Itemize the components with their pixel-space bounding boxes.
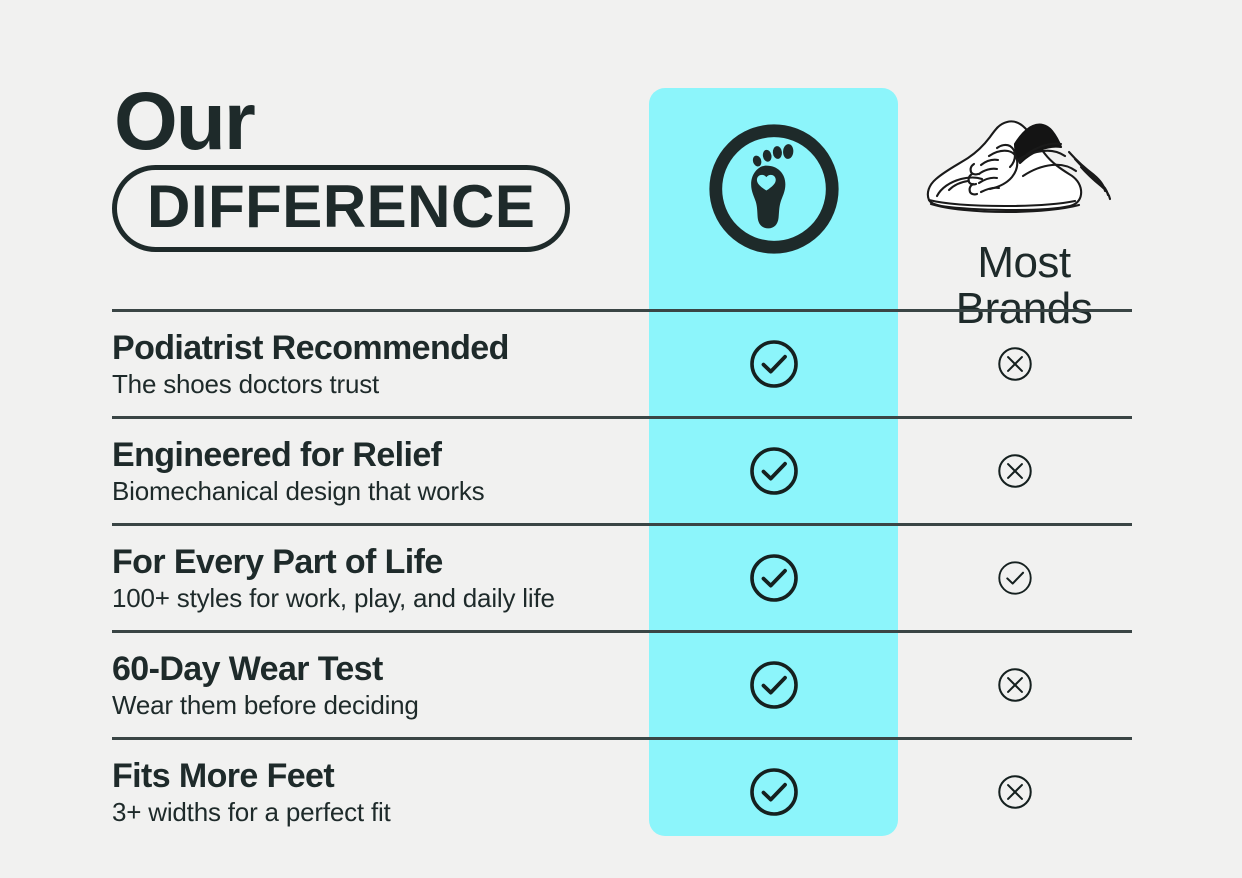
check-circle-icon bbox=[748, 552, 800, 604]
cross-circle-icon bbox=[996, 666, 1034, 704]
feature-title: Podiatrist Recommended bbox=[112, 329, 637, 367]
feature-subtitle: Biomechanical design that works bbox=[112, 476, 637, 507]
table-row: Fits More Feet3+ widths for a perfect fi… bbox=[112, 737, 1132, 844]
title-line-difference: DIFFERENCE bbox=[112, 165, 570, 251]
our-brand-mark-cell bbox=[649, 419, 898, 523]
most-brands-mark-cell bbox=[898, 633, 1132, 737]
check-circle-icon bbox=[748, 766, 800, 818]
our-brand-mark-cell bbox=[649, 526, 898, 630]
table-row: Podiatrist RecommendedThe shoes doctors … bbox=[112, 309, 1132, 416]
feature-subtitle: Wear them before deciding bbox=[112, 690, 637, 721]
feature-title: Engineered for Relief bbox=[112, 436, 637, 474]
cross-circle-icon bbox=[996, 345, 1034, 383]
most-brands-mark-cell bbox=[898, 740, 1132, 844]
our-brand-mark-cell bbox=[649, 312, 898, 416]
comparison-table: Podiatrist RecommendedThe shoes doctors … bbox=[112, 309, 1132, 844]
table-row: For Every Part of Life100+ styles for wo… bbox=[112, 523, 1132, 630]
feature-cell: Podiatrist RecommendedThe shoes doctors … bbox=[112, 329, 649, 400]
feature-cell: 60-Day Wear TestWear them before decidin… bbox=[112, 650, 649, 721]
cross-circle-icon bbox=[996, 773, 1034, 811]
feature-subtitle: 3+ widths for a perfect fit bbox=[112, 797, 637, 828]
our-brand-mark-cell bbox=[649, 740, 898, 844]
cross-circle-icon bbox=[996, 452, 1034, 490]
sneaker-illustration bbox=[919, 104, 1129, 232]
comparison-page: Our DIFFERENCE bbox=[0, 0, 1242, 878]
title-line-our: Our bbox=[114, 84, 592, 159]
check-circle-icon bbox=[748, 445, 800, 497]
check-circle-icon bbox=[748, 338, 800, 390]
most-brands-mark-cell bbox=[898, 526, 1132, 630]
most-brands-mark-cell bbox=[898, 312, 1132, 416]
feature-cell: For Every Part of Life100+ styles for wo… bbox=[112, 543, 649, 614]
feature-cell: Fits More Feet3+ widths for a perfect fi… bbox=[112, 757, 649, 828]
competitor-column-header: Most Brands bbox=[908, 104, 1140, 332]
footprint-heart-logo bbox=[703, 118, 845, 260]
our-brand-mark-cell bbox=[649, 633, 898, 737]
feature-title: 60-Day Wear Test bbox=[112, 650, 637, 688]
check-circle-icon bbox=[748, 659, 800, 711]
most-brands-mark-cell bbox=[898, 419, 1132, 523]
feature-subtitle: The shoes doctors trust bbox=[112, 369, 637, 400]
check-circle-icon bbox=[996, 559, 1034, 597]
table-row: Engineered for ReliefBiomechanical desig… bbox=[112, 416, 1132, 523]
page-title: Our DIFFERENCE bbox=[112, 84, 592, 252]
feature-cell: Engineered for ReliefBiomechanical desig… bbox=[112, 436, 649, 507]
feature-title: Fits More Feet bbox=[112, 757, 637, 795]
feature-title: For Every Part of Life bbox=[112, 543, 637, 581]
table-row: 60-Day Wear TestWear them before decidin… bbox=[112, 630, 1132, 737]
feature-subtitle: 100+ styles for work, play, and daily li… bbox=[112, 583, 637, 614]
comparison-header: Our DIFFERENCE bbox=[0, 0, 1242, 310]
